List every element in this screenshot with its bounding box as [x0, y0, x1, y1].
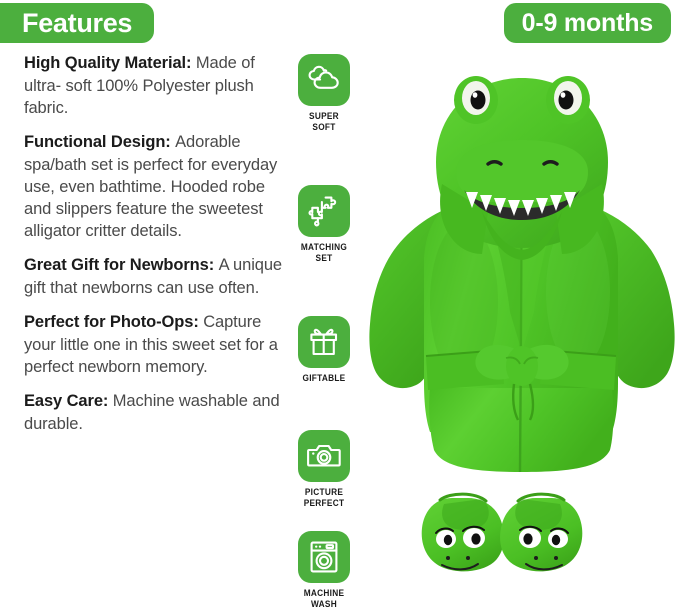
feature-item: Easy Care: Machine washable and durable.	[24, 390, 286, 435]
features-header-label: Features	[22, 10, 132, 37]
feature-title: Easy Care:	[24, 392, 108, 410]
benefit-badge-giftable: GIFTABLE	[296, 316, 352, 384]
benefit-badge-label: SUPERSOFT	[298, 111, 350, 132]
age-range-label: 0-9 months	[522, 11, 653, 36]
product-image	[364, 52, 679, 611]
age-range-badge: 0-9 months	[504, 3, 671, 43]
robe-illustration	[369, 76, 674, 472]
features-header-badge: Features	[0, 3, 154, 43]
feature-title: Perfect for Photo-Ops:	[24, 313, 199, 331]
product-illustration	[364, 52, 679, 611]
feature-item: Functional Design: Adorable spa/bath set…	[24, 131, 286, 242]
puzzle-pieces-icon	[298, 185, 350, 237]
alligator-right-eye	[546, 76, 590, 124]
slipper-right	[500, 494, 582, 571]
camera-icon	[298, 430, 350, 482]
washing-machine-icon	[298, 531, 350, 583]
alligator-left-eye	[454, 76, 498, 124]
feature-title: High Quality Material:	[24, 54, 191, 72]
benefit-badge-label: PICTUREPERFECT	[298, 487, 350, 508]
benefit-badge-label: MATCHINGSET	[298, 242, 350, 263]
gift-box-icon	[298, 316, 350, 368]
slipper-left	[422, 494, 504, 571]
cloud-icon	[298, 54, 350, 106]
feature-title: Functional Design:	[24, 133, 171, 151]
benefit-badge-picture-perfect: PICTUREPERFECT	[296, 430, 352, 508]
benefit-badge-label: MACHINEWASH	[298, 588, 350, 609]
feature-item: High Quality Material: Made of ultra- so…	[24, 52, 286, 119]
feature-list: High Quality Material: Made of ultra- so…	[24, 52, 286, 447]
slippers-illustration	[422, 494, 583, 571]
feature-item: Great Gift for Newborns: A unique gift t…	[24, 254, 286, 299]
feature-item: Perfect for Photo-Ops: Capture your litt…	[24, 311, 286, 378]
benefit-badge-super-soft: SUPERSOFT	[296, 54, 352, 132]
feature-title: Great Gift for Newborns:	[24, 256, 214, 274]
benefit-badge-machine-wash: MACHINEWASH	[296, 531, 352, 609]
benefit-badge-label: GIFTABLE	[298, 373, 350, 384]
benefit-badge-matching-set: MATCHINGSET	[296, 185, 352, 263]
